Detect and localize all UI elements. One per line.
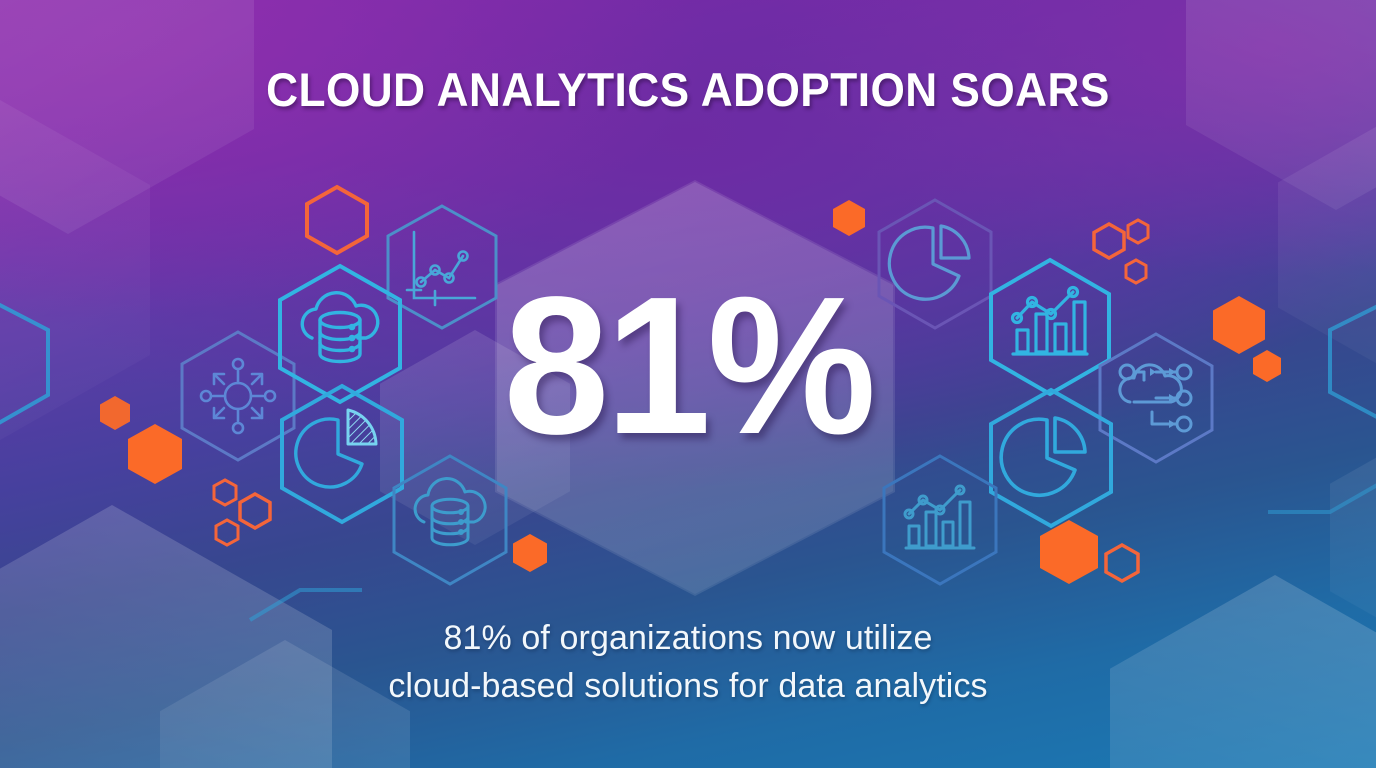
cloud-database-icon <box>388 452 512 588</box>
subtitle-line-2: cloud-based solutions for data analytics <box>0 662 1376 710</box>
orange-hexagon-top-right <box>833 200 865 236</box>
orange-hexagon-outline-bottom-left-3 <box>214 518 240 547</box>
infographic-canvas: CLOUD ANALYTICS ADOPTION SOARS 81% 81% o… <box>0 0 1376 768</box>
stat-value: 81% <box>21 268 1356 464</box>
orange-hexagon-outline-right-2 <box>1126 218 1150 245</box>
page-title: CLOUD ANALYTICS ADOPTION SOARS <box>41 62 1334 117</box>
orange-hexagon-outline-bottom-left-2 <box>238 492 272 530</box>
subtitle: 81% of organizations now utilize cloud-b… <box>0 614 1376 710</box>
subtitle-line-1: 81% of organizations now utilize <box>0 614 1376 662</box>
orange-hexagon-outline-bottom-left-1 <box>212 478 238 507</box>
orange-hexagon-outline-bottom-right <box>1104 543 1140 583</box>
orange-hexagon-bottom-center <box>513 534 547 572</box>
bar-line-chart-icon <box>878 452 1002 588</box>
orange-hexagon-outline-top-left <box>305 185 369 255</box>
orange-hexagon-outline-right-1 <box>1092 222 1126 260</box>
